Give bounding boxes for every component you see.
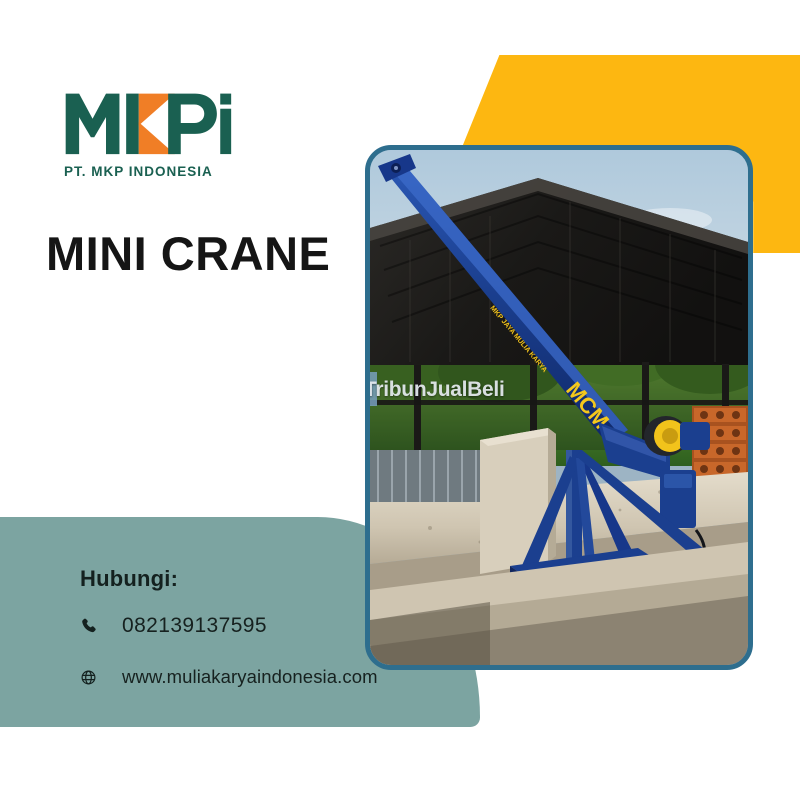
contact-heading: Hubungi: <box>80 566 378 592</box>
product-photo-frame: MKP JAYA MULIA KARYA MCM <box>365 145 753 670</box>
page-title: MINI CRANE <box>46 226 330 281</box>
contact-phone-row[interactable]: 082139137595 <box>80 614 378 638</box>
phone-number: 082139137595 <box>122 614 267 638</box>
product-photo: MKP JAYA MULIA KARYA MCM <box>370 150 748 665</box>
company-name: PT. MKP INDONESIA <box>64 164 232 179</box>
brand-logo: PT. MKP INDONESIA <box>64 88 232 179</box>
photo-watermark: TribunJualBeli <box>370 378 505 402</box>
contact-block: Hubungi: 082139137595 www.muliakaryaindo… <box>80 566 378 688</box>
phone-icon <box>80 617 106 635</box>
poster-canvas: PT. MKP INDONESIA MINI CRANE <box>0 0 800 788</box>
contact-website-row[interactable]: www.muliakaryaindonesia.com <box>80 666 378 688</box>
crane-photo-illustration: MKP JAYA MULIA KARYA MCM <box>370 150 748 665</box>
website-url: www.muliakaryaindonesia.com <box>122 666 378 688</box>
globe-icon <box>80 669 106 686</box>
mkpi-logo-icon <box>64 88 232 158</box>
